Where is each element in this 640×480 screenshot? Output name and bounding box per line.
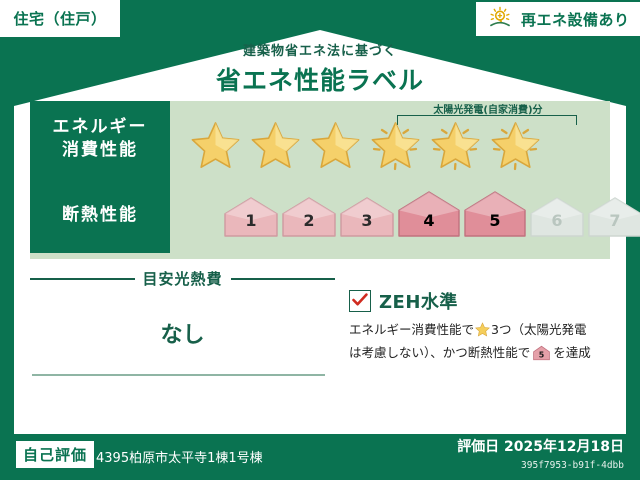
zeh-desc-stars: 3つ（太陽光発電 — [491, 322, 586, 337]
zeh-column: ZEH水準 エネルギー消費性能で3つ（太陽光発電は考慮しない）、かつ断熱性能で5… — [335, 266, 610, 394]
zeh-title-row: ZEH水準 — [349, 288, 610, 314]
sun-icon — [488, 6, 514, 32]
star-rating — [186, 117, 545, 175]
insulation-level-4: 4 — [398, 191, 460, 237]
insulation-level-number: 2 — [282, 211, 336, 230]
evaluation-id: 395f7953-b91f-4dbb — [521, 460, 624, 471]
self-evaluation-badge: 自己評価 — [16, 441, 94, 468]
title-subtitle: 建築物省エネ法に基づく — [0, 40, 640, 59]
insulation-level-number: 6 — [530, 211, 584, 230]
label-title-block: 建築物省エネ法に基づく 省エネ性能ラベル — [0, 40, 640, 97]
star-filled — [186, 117, 245, 175]
star-solar — [426, 117, 485, 175]
energy-label-line2: 消費性能 — [62, 139, 138, 162]
utility-cost-divider — [32, 374, 325, 376]
property-address: 4395柏原市太平寺1棟1号棟 — [96, 447, 263, 466]
insulation-level-6: 6 — [530, 197, 584, 237]
insulation-performance-label: 断熱性能 — [30, 177, 170, 253]
insulation-level-number: 4 — [398, 211, 460, 230]
zeh-description: エネルギー消費性能で3つ（太陽光発電は考慮しない）、かつ断熱性能で5を達成 — [349, 320, 610, 368]
insulation-scale-area: 1 2 3 4 5 6 7 — [182, 177, 604, 253]
lower-section: 目安光熱費 なし ZEH水準 エネルギー消費性能で3つ（太陽光発電は考慮しない）… — [30, 266, 610, 394]
insulation-level-3: 3 — [340, 197, 394, 237]
star-filled — [306, 117, 365, 175]
check-icon — [352, 292, 368, 311]
energy-performance-row: エネルギー 消費性能 太陽光発電(自家消費)分 — [30, 101, 610, 177]
evaluation-date: 評価日 2025年12月18日 — [457, 436, 624, 456]
insulation-level-7: 7 — [588, 197, 640, 237]
utility-cost-heading-text: 目安光熱費 — [143, 268, 223, 289]
performance-panel: エネルギー 消費性能 太陽光発電(自家消費)分 — [30, 101, 610, 259]
insulation-level-number: 3 — [340, 211, 394, 230]
insulation-level-5: 5 — [464, 191, 526, 237]
renewable-energy-badge: 再エネ設備あり — [476, 2, 640, 36]
energy-label-line1: エネルギー — [53, 116, 148, 139]
energy-label-root: 住宅（住戸） 再エネ設備あり — [0, 0, 640, 480]
insulation-level-number: 5 — [464, 211, 526, 230]
svg-text:5: 5 — [539, 351, 545, 360]
insulation-label-line1: 断熱性能 — [62, 204, 138, 227]
label-footer: 自己評価 4395柏原市太平寺1棟1号棟 評価日 2025年12月18日 395… — [0, 434, 640, 480]
heading-rule-right — [231, 278, 336, 280]
zeh-desc-part3: を達成 — [553, 345, 591, 360]
solar-annotation-label: 太陽光発電(自家消費)分 — [378, 101, 598, 116]
star-filled — [246, 117, 305, 175]
renewable-badge-label: 再エネ設備あり — [521, 9, 630, 30]
heading-rule-left — [30, 278, 135, 280]
building-type-tab: 住宅（住戸） — [0, 0, 120, 37]
building-type-label: 住宅（住戸） — [13, 8, 106, 29]
zeh-checkbox — [349, 290, 371, 312]
zeh-desc-part1: エネルギー消費性能で — [349, 322, 474, 337]
insulation-level-number: 7 — [588, 211, 640, 230]
insulation-level-2: 2 — [282, 197, 336, 237]
insulation-level-scale: 1 2 3 4 5 6 7 — [224, 191, 640, 237]
inline-star-icon — [475, 322, 490, 343]
zeh-desc-part2: は考慮しない）、かつ断熱性能で — [349, 345, 530, 360]
utility-cost-heading: 目安光熱費 — [30, 268, 335, 289]
utility-cost-value: なし — [30, 317, 335, 349]
insulation-level-1: 1 — [224, 197, 278, 237]
inline-house-badge: 5 — [532, 345, 551, 367]
star-solar — [486, 117, 545, 175]
utility-cost-column: 目安光熱費 なし — [30, 266, 335, 394]
insulation-performance-row: 断熱性能 1 2 3 4 5 6 — [30, 177, 610, 253]
star-solar — [366, 117, 425, 175]
insulation-level-number: 1 — [224, 211, 278, 230]
page-title: 省エネ性能ラベル — [0, 61, 640, 97]
zeh-title: ZEH水準 — [379, 288, 458, 314]
energy-performance-label: エネルギー 消費性能 — [30, 101, 170, 177]
energy-stars-area: 太陽光発電(自家消費)分 — [182, 101, 604, 177]
